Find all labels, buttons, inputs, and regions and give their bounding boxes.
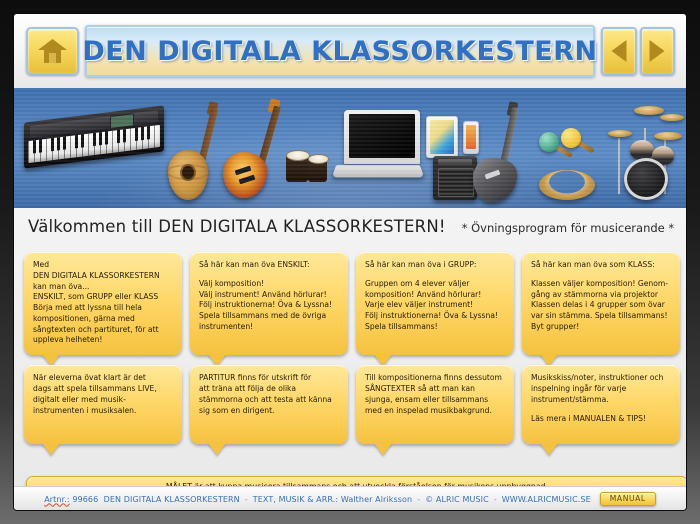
home-icon	[36, 36, 69, 66]
bubble-intro[interactable]: Med DEN DIGITALA KLASSORKESTERN kan man …	[24, 252, 182, 355]
bubble-enskilt[interactable]: Så här kan man öva ENSKILT: Välj komposi…	[190, 252, 348, 355]
bubble-enskilt-title: Så här kan man öva ENSKILT:	[199, 260, 339, 271]
bongos-image	[286, 148, 328, 188]
next-button[interactable]	[640, 27, 676, 75]
bubble-manual-tips[interactable]: Musikskiss/noter, instruktioner och insp…	[522, 365, 680, 444]
footer-separator-1: -	[240, 495, 253, 504]
bubble-sangtexter-text: Till kompositionerna finns dessutom SÅNG…	[365, 373, 505, 416]
bubble-klass-title: Så här kan man öva som KLASS:	[531, 260, 671, 271]
bubble-live-text: När eleverna övat klart är det dags att …	[33, 373, 173, 416]
tambourine-image	[539, 170, 595, 200]
bubble-grupp-text: Gruppen om 4 elever väljer komposition! …	[365, 279, 505, 333]
acoustic-guitar-image	[162, 104, 222, 204]
footer-artnr-value: 99666	[72, 495, 98, 504]
navigation-buttons	[601, 27, 675, 71]
info-bubble-grid: Med DEN DIGITALA KLASSORKESTERN kan man …	[24, 252, 680, 444]
welcome-header: Välkommen till DEN DIGITALA KLASSORKESTE…	[28, 217, 674, 236]
app-title-plate: DEN DIGITALA KLASSORKESTERN	[85, 25, 595, 77]
device-bezel: DEN DIGITALA KLASSORKESTERN	[0, 0, 700, 524]
tablet-image	[426, 116, 458, 158]
bubble-intro-text: Med DEN DIGITALA KLASSORKESTERN kan man …	[33, 260, 173, 346]
maracas-image	[539, 126, 595, 172]
bubble-sangtexter[interactable]: Till kompositionerna finns dessutom SÅNG…	[356, 365, 514, 444]
footer-product: DEN DIGITALA KLASSORKESTERN	[104, 495, 240, 504]
footer-text: Artnr.: 99666 DEN DIGITALA KLASSORKESTER…	[44, 495, 591, 504]
footer-separator-3: -	[489, 495, 502, 504]
welcome-heading: Välkommen till DEN DIGITALA KLASSORKESTE…	[28, 217, 446, 236]
footer-website[interactable]: WWW.ALRICMUSIC.SE	[502, 495, 591, 504]
bubble-manual-text2: Läs mera i MANUALEN & TIPS!	[531, 414, 671, 425]
bubble-partitur-text: PARTITUR finns för utskrift för att trän…	[199, 373, 339, 416]
keyboard-image	[24, 105, 164, 184]
bubble-manual-text: Musikskiss/noter, instruktioner och insp…	[531, 373, 671, 405]
home-button[interactable]	[26, 27, 79, 75]
previous-button[interactable]	[601, 27, 637, 75]
footer-artnr-label: Artnr.:	[44, 495, 69, 504]
laptop-image	[334, 110, 422, 188]
app-window: DEN DIGITALA KLASSORKESTERN	[14, 14, 686, 510]
bubble-grupp[interactable]: Så här kan man öva i GRUPP: Gruppen om 4…	[356, 252, 514, 355]
instrument-photo-banner	[14, 88, 686, 208]
titlebar: DEN DIGITALA KLASSORKESTERN	[14, 14, 686, 88]
main-content: Välkommen till DEN DIGITALA KLASSORKESTE…	[14, 208, 686, 486]
bubble-klass-text: Klassen väljer komposition! Genom- gång …	[531, 279, 671, 333]
bubble-live[interactable]: När eleverna övat klart är det dags att …	[24, 365, 182, 444]
bubble-enskilt-text: Välj komposition! Välj instrument! Använ…	[199, 279, 339, 333]
welcome-subheading: * Övningsprogram för musicerande *	[462, 221, 674, 235]
bubble-partitur[interactable]: PARTITUR finns för utskrift för att trän…	[190, 365, 348, 444]
bubble-grupp-title: Så här kan man öva i GRUPP:	[365, 260, 505, 271]
footer-bar: Artnr.: 99666 DEN DIGITALA KLASSORKESTER…	[14, 486, 686, 510]
footer-separator-2: -	[412, 495, 425, 504]
bass-guitar-image	[219, 102, 281, 206]
right-arrow-icon	[650, 40, 665, 62]
manual-button[interactable]: MANUAL	[600, 492, 656, 506]
page-title: DEN DIGITALA KLASSORKESTERN	[82, 36, 597, 67]
drum-kit-image	[604, 102, 682, 206]
left-arrow-icon	[611, 40, 626, 62]
footer-copyright: © ALRIC MUSIC	[425, 495, 489, 504]
footer-credits: TEXT, MUSIK & ARR.: Walther Alriksson	[253, 495, 412, 504]
bubble-klass[interactable]: Så här kan man öva som KLASS: Klassen vä…	[522, 252, 680, 355]
electric-guitar-image	[469, 106, 527, 206]
